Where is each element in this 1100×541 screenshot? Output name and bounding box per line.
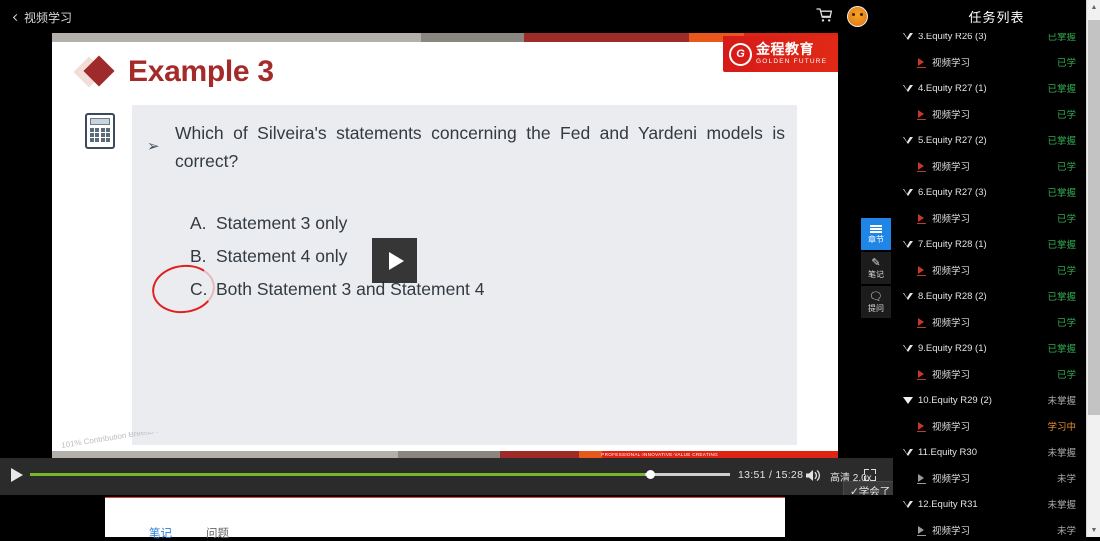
tool-ask-label: 提问 (868, 304, 884, 313)
triangle-down-outline-icon[interactable] (903, 33, 913, 40)
slide-top-color-band (52, 33, 838, 42)
task-group-status: 已掌握 (1047, 81, 1076, 95)
question-line: ➢ Which of Silveira's statements concern… (147, 119, 785, 175)
speech-bubble-icon: 🗨 (869, 291, 883, 303)
triangle-down-outline-icon[interactable] (903, 501, 913, 508)
scroll-up-icon[interactable]: ▲ (1087, 0, 1100, 14)
task-group-label: 6.Equity R27 (3) (918, 187, 1047, 198)
video-controls: 13:51 / 15:28 高清 2.0x (0, 458, 893, 495)
task-sub-label: 视频学习 (932, 523, 1057, 537)
triangle-down-outline-icon[interactable] (903, 449, 913, 456)
task-sub-label: 视频学习 (932, 367, 1057, 381)
task-sub-row[interactable]: 视频学习已学 (893, 153, 1086, 179)
task-sub-label: 视频学习 (932, 471, 1057, 485)
task-group: 7.Equity R28 (1)已掌握视频学习已学 (893, 231, 1086, 283)
task-group-row[interactable]: 8.Equity R28 (2)已掌握 (893, 283, 1086, 309)
speaker-icon[interactable] (805, 468, 822, 488)
task-group-label: 8.Equity R28 (2) (918, 291, 1047, 302)
option-c-text: Both Statement 3 and Statement 4 (216, 279, 485, 299)
progress-fill (30, 473, 645, 476)
task-group-row[interactable]: 10.Equity R29 (2)未掌握 (893, 387, 1086, 413)
notes-tabs: 笔记 问题 (149, 525, 229, 541)
task-list-panel[interactable]: 3.Equity R26 (3)已掌握视频学习已学4.Equity R27 (1… (893, 33, 1100, 537)
volume-slider-knob[interactable] (646, 470, 655, 479)
task-sub-status: 已学 (1057, 55, 1076, 69)
video-stage[interactable]: G 金程教育 GOLDEN FUTURE Example 3 ➢ Which o… (0, 33, 893, 458)
task-sub-status: 已学 (1057, 263, 1076, 277)
task-group: 12.Equity R31未掌握视频学习未学 (893, 491, 1086, 537)
volume-slider[interactable] (645, 473, 730, 476)
task-group: 10.Equity R29 (2)未掌握视频学习学习中 (893, 387, 1086, 439)
task-list-title: 任务列表 (968, 7, 1024, 26)
play-icon (11, 468, 23, 482)
side-tool-strip: 章节 ✎ 笔记 🗨 提问 (861, 218, 891, 320)
tab-notes[interactable]: 笔记 (149, 525, 172, 541)
task-sub-status: 学习中 (1047, 419, 1076, 433)
task-sub-status: 未学 (1057, 471, 1076, 485)
avatar-face (848, 7, 867, 26)
task-group-label: 4.Equity R27 (1) (918, 83, 1047, 94)
task-sub-label: 视频学习 (932, 159, 1057, 173)
task-sub-label: 视频学习 (932, 107, 1057, 121)
bottom-area: 笔记 问题 (0, 495, 893, 537)
task-group-row[interactable]: 12.Equity R31未掌握 (893, 491, 1086, 517)
task-group-status: 未掌握 (1047, 445, 1076, 459)
task-group-row[interactable]: 9.Equity R29 (1)已掌握 (893, 335, 1086, 361)
task-group-label: 12.Equity R31 (918, 499, 1047, 510)
scrollbar-thumb[interactable] (1088, 20, 1100, 415)
triangle-down-outline-icon[interactable] (903, 137, 913, 144)
triangle-down-outline-icon[interactable] (903, 293, 913, 300)
video-play-icon (917, 370, 926, 379)
video-play-icon (917, 474, 926, 483)
triangle-down-filled-icon[interactable] (903, 397, 913, 404)
footer-tagline: PROFESSIONAL·INNOVATIVE·VALUE CREATING (601, 451, 718, 458)
page-scrollbar[interactable]: ▲ ▼ (1086, 0, 1100, 537)
progress-bar[interactable] (30, 473, 645, 476)
tab-questions[interactable]: 问题 (206, 525, 229, 541)
task-group: 11.Equity R30未掌握视频学习未学 (893, 439, 1086, 491)
task-group-row[interactable]: 5.Equity R27 (2)已掌握 (893, 127, 1086, 153)
task-sub-status: 已学 (1057, 107, 1076, 121)
triangle-down-outline-icon[interactable] (903, 85, 913, 92)
page-title: Example 3 (128, 55, 274, 89)
tool-chapters[interactable]: 章节 (861, 218, 891, 250)
task-sub-row[interactable]: 视频学习已学 (893, 309, 1086, 335)
option-b-text: Statement 4 only (216, 246, 347, 266)
back-to-video-study[interactable]: 视频学习 (14, 9, 72, 26)
task-group-row[interactable]: 4.Equity R27 (1)已掌握 (893, 75, 1086, 101)
task-sub-status: 已学 (1057, 159, 1076, 173)
triangle-down-outline-icon[interactable] (903, 241, 913, 248)
slide-bottom-color-band (52, 451, 838, 458)
footer-swoosh-text: 101% Contribution Breeds Professionalism (62, 432, 212, 450)
task-group-status: 已掌握 (1047, 33, 1076, 43)
task-group-label: 9.Equity R29 (1) (918, 343, 1047, 354)
timecode: 13:51 / 15:28 (738, 469, 803, 481)
tool-chapters-label: 章节 (868, 235, 884, 244)
logo-seal-icon: G (729, 43, 752, 66)
footer-swoosh: 101% Contribution Breeds Professionalism (62, 432, 372, 450)
back-label: 视频学习 (24, 9, 72, 26)
task-group: 5.Equity R27 (2)已掌握视频学习已学 (893, 127, 1086, 179)
task-sub-row[interactable]: 视频学习未学 (893, 465, 1086, 491)
task-group-status: 已掌握 (1047, 133, 1076, 147)
logo-chinese-name: 金程教育 (756, 42, 827, 57)
task-group-row[interactable]: 7.Equity R28 (1)已掌握 (893, 231, 1086, 257)
bullet-arrow-icon: ➢ (147, 133, 160, 161)
task-sub-label: 视频学习 (932, 55, 1057, 69)
tool-notes-label: 笔记 (868, 270, 884, 279)
avatar[interactable] (847, 6, 868, 27)
task-sub-row[interactable]: 视频学习已学 (893, 101, 1086, 127)
triangle-down-outline-icon[interactable] (903, 189, 913, 196)
pencil-icon: ✎ (871, 257, 880, 269)
task-sub-label: 视频学习 (932, 211, 1057, 225)
diamond-icon (78, 55, 118, 89)
option-a-letter: A. (190, 207, 216, 240)
task-group-row[interactable]: 3.Equity R26 (3)已掌握 (893, 33, 1086, 49)
task-group-status: 未掌握 (1047, 497, 1076, 511)
task-group-label: 3.Equity R26 (3) (918, 33, 1047, 42)
cart-icon[interactable] (816, 7, 833, 28)
chevron-left-icon (13, 14, 20, 21)
task-sub-label: 视频学习 (932, 419, 1047, 433)
task-sub-row[interactable]: 视频学习已学 (893, 257, 1086, 283)
task-sub-status: 已学 (1057, 315, 1076, 329)
play-pause-button[interactable] (8, 466, 26, 484)
task-group: 3.Equity R26 (3)已掌握视频学习已学 (893, 33, 1086, 75)
task-sub-row[interactable]: 视频学习未学 (893, 517, 1086, 537)
task-group-status: 已掌握 (1047, 289, 1076, 303)
task-group-label: 7.Equity R28 (1) (918, 239, 1047, 250)
video-play-icon (917, 214, 926, 223)
task-group-label: 5.Equity R27 (2) (918, 135, 1047, 146)
task-sub-row[interactable]: 视频学习已学 (893, 205, 1086, 231)
tool-ask[interactable]: 🗨 提问 (861, 286, 891, 318)
option-a[interactable]: A.Statement 3 only (190, 207, 485, 240)
option-c[interactable]: C.Both Statement 3 and Statement 4 (190, 273, 485, 306)
brand-logo: G 金程教育 GOLDEN FUTURE (723, 36, 838, 72)
play-overlay-button[interactable] (372, 238, 417, 283)
notes-panel: 笔记 问题 (105, 497, 785, 537)
task-group-status: 已掌握 (1047, 237, 1076, 251)
task-group: 4.Equity R27 (1)已掌握视频学习已学 (893, 75, 1086, 127)
task-sub-row[interactable]: 视频学习已学 (893, 49, 1086, 75)
task-sub-row[interactable]: 视频学习已学 (893, 361, 1086, 387)
task-sub-label: 视频学习 (932, 263, 1057, 277)
play-icon (389, 252, 404, 270)
slide-title-row: Example 3 (78, 55, 274, 89)
task-sub-status: 已学 (1057, 211, 1076, 225)
option-a-text: Statement 3 only (216, 213, 347, 233)
option-b-letter: B. (190, 240, 216, 273)
top-bar: 视频学习 (0, 0, 893, 33)
question-box: ➢ Which of Silveira's statements concern… (132, 105, 797, 445)
video-play-icon (917, 266, 926, 275)
list-icon (870, 224, 882, 235)
video-play-icon (917, 110, 926, 119)
task-group-status: 未掌握 (1047, 393, 1076, 407)
options-list: A.Statement 3 only B.Statement 4 only C.… (190, 207, 485, 306)
task-group-label: 10.Equity R29 (2) (918, 395, 1047, 406)
task-sub-status: 未学 (1057, 523, 1076, 537)
task-group-row[interactable]: 11.Equity R30未掌握 (893, 439, 1086, 465)
task-list-header: 任务列表 (893, 0, 1100, 33)
video-play-icon (917, 58, 926, 67)
scroll-down-icon[interactable]: ▼ (1087, 523, 1100, 537)
task-group: 8.Equity R28 (2)已掌握视频学习已学 (893, 283, 1086, 335)
calculator-icon (85, 113, 115, 149)
option-b[interactable]: B.Statement 4 only (190, 240, 485, 273)
task-sub-row[interactable]: 视频学习学习中 (893, 413, 1086, 439)
task-list: 3.Equity R26 (3)已掌握视频学习已学4.Equity R27 (1… (893, 33, 1086, 537)
task-sub-status: 已学 (1057, 367, 1076, 381)
task-group: 9.Equity R29 (1)已掌握视频学习已学 (893, 335, 1086, 387)
slide-footer: 101% Contribution Breeds Professionalism… (52, 432, 838, 458)
video-play-icon (917, 162, 926, 171)
video-play-icon (917, 422, 926, 431)
task-group: 6.Equity R27 (3)已掌握视频学习已学 (893, 179, 1086, 231)
triangle-down-outline-icon[interactable] (903, 345, 913, 352)
slide: G 金程教育 GOLDEN FUTURE Example 3 ➢ Which o… (52, 33, 838, 458)
task-group-status: 已掌握 (1047, 185, 1076, 199)
task-sub-label: 视频学习 (932, 315, 1057, 329)
task-group-row[interactable]: 6.Equity R27 (3)已掌握 (893, 179, 1086, 205)
tool-notes[interactable]: ✎ 笔记 (861, 252, 891, 284)
option-c-letter: C. (190, 273, 216, 306)
video-play-icon (917, 318, 926, 327)
logo-english-name: GOLDEN FUTURE (756, 57, 827, 66)
task-group-label: 11.Equity R30 (918, 447, 1047, 458)
task-group-status: 已掌握 (1047, 341, 1076, 355)
question-text: Which of Silveira's statements concernin… (147, 119, 785, 175)
fullscreen-icon[interactable] (864, 469, 876, 481)
video-play-icon (917, 526, 926, 535)
